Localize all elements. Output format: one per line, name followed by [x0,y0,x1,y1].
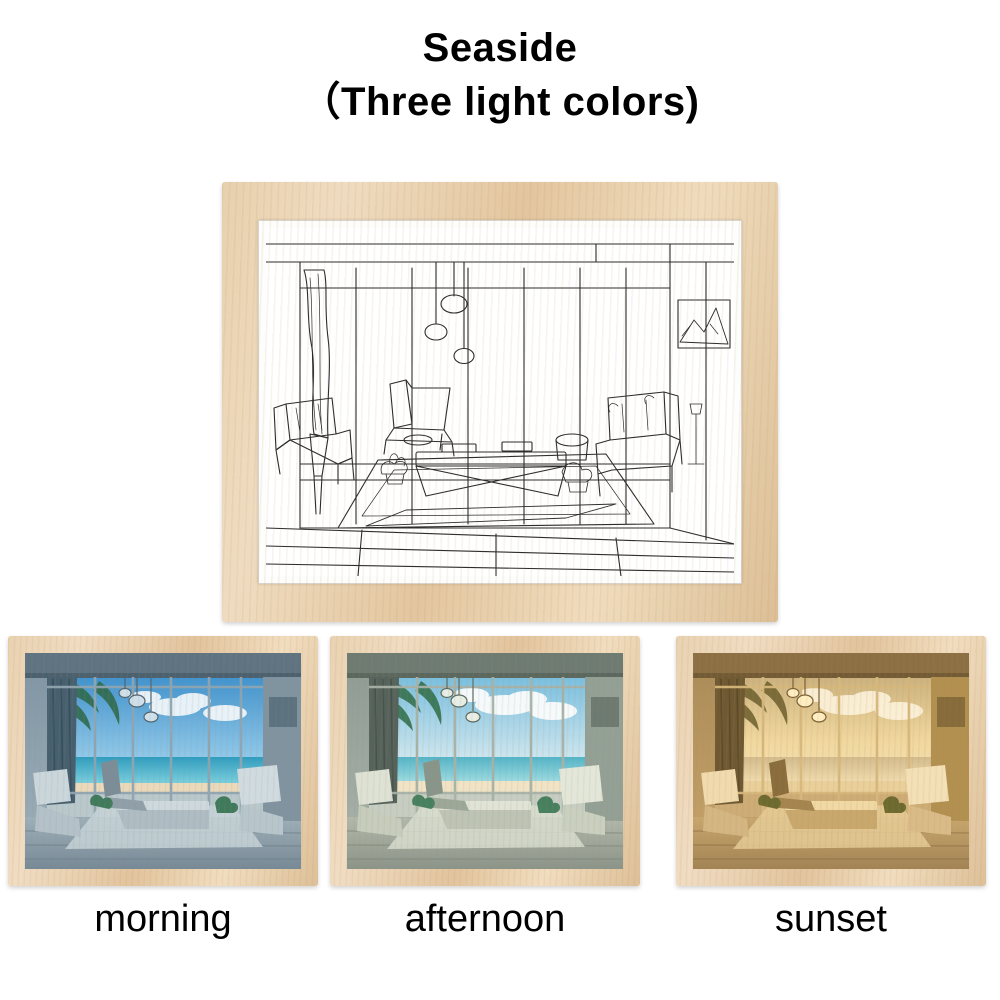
lineart-svg [266,228,734,576]
afternoon-scene-svg [347,653,623,869]
variant-frame-afternoon[interactable] [330,636,640,886]
page-subtitle: （Three light colors) [0,74,1000,130]
page-title: Seaside [0,22,1000,74]
variant-frames-row [0,636,1000,886]
seaside-lineart-frame[interactable] [222,182,778,622]
sunset-scene-svg [693,653,969,869]
variant-frame-sunset[interactable] [676,636,986,886]
variant-artwork-afternoon [347,653,623,869]
lineart-artwork [266,228,734,576]
caption-sunset: sunset [676,896,986,942]
variant-artwork-morning [25,653,301,869]
product-title-block: Seaside （Three light colors) [0,22,1000,130]
caption-morning: morning [8,896,318,942]
caption-afternoon: afternoon [330,896,640,942]
variant-artwork-sunset [693,653,969,869]
frame-mat [258,220,742,584]
variant-frame-morning[interactable] [8,636,318,886]
morning-scene-svg [25,653,301,869]
